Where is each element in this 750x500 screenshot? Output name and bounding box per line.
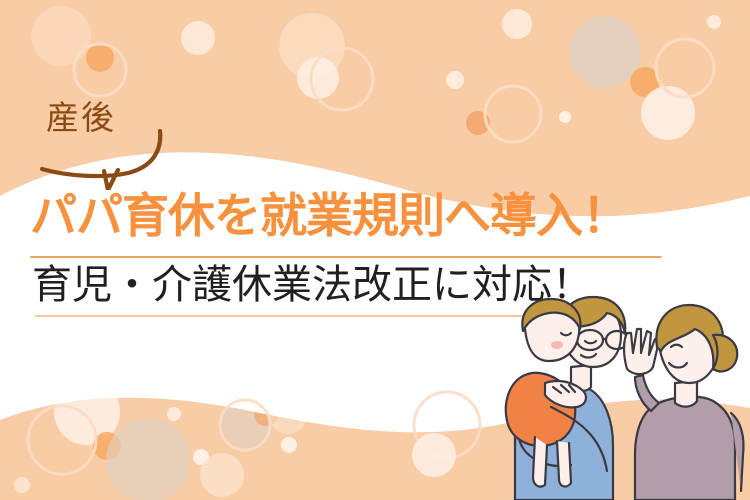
headline-block: 産後 パパ育休を就業規則へ導入！ 育児・介護休業法改正に対応！ xyxy=(0,95,700,325)
mother-top xyxy=(635,397,735,500)
baby-cheek xyxy=(551,341,563,349)
divider-top xyxy=(30,256,662,258)
page-title: パパ育休を就業規則へ導入！ xyxy=(30,193,628,240)
baby-leg-right xyxy=(557,441,571,486)
badge-speech-bubble: 産後 xyxy=(32,95,207,190)
family-illustration xyxy=(495,295,750,500)
badge-label: 産後 xyxy=(46,101,116,134)
baby-leg-left xyxy=(533,437,547,487)
mother-neck xyxy=(675,381,697,407)
mother-arm-wave xyxy=(635,375,659,411)
poster-canvas: 産後 パパ育休を就業規則へ導入！ 育児・介護休業法改正に対応！ xyxy=(0,0,750,500)
mother-hair-bun xyxy=(713,335,737,372)
mother-hand xyxy=(624,329,659,374)
divider-bottom xyxy=(35,315,540,317)
